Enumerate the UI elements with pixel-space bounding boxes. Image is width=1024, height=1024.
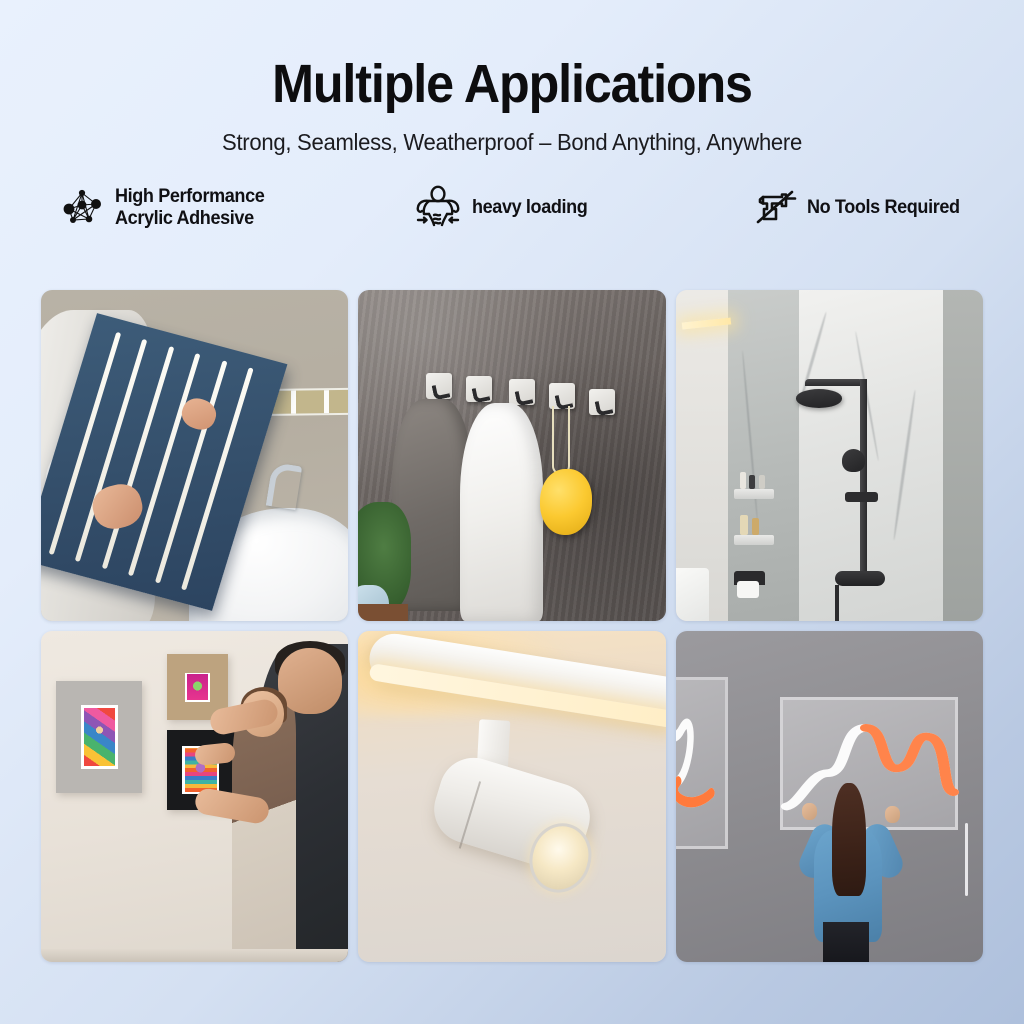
feature-badge-label: High Performance Acrylic Adhesive <box>115 186 264 231</box>
gallery-cell-adhesive-hooks <box>358 290 665 621</box>
no-drill-icon <box>752 185 798 232</box>
photo-shower-fixtures <box>676 290 983 621</box>
application-photo-grid <box>41 290 983 962</box>
photo-panel-install <box>41 290 348 621</box>
strong-arms-icon <box>413 184 463 233</box>
header: Multiple Applications Strong, Seamless, … <box>0 0 1024 156</box>
photo-neon-strip-art <box>676 631 983 962</box>
feature-badge-acrylic-adhesive: High Performance Acrylic Adhesive <box>44 185 348 232</box>
page-title: Multiple Applications <box>36 56 988 113</box>
feature-badge-label: No Tools Required <box>807 197 960 219</box>
photo-framed-art <box>41 631 348 962</box>
molecule-network-icon <box>60 185 106 232</box>
photo-adhesive-hooks <box>358 290 665 621</box>
feature-badge-label: heavy loading <box>472 197 587 219</box>
gallery-cell-ceiling-spotlight <box>358 631 665 962</box>
page-subtitle: Strong, Seamless, Weatherproof – Bond An… <box>20 129 1003 156</box>
gallery-cell-framed-art <box>41 631 348 962</box>
gallery-cell-neon-strip-art <box>676 631 983 962</box>
gallery-cell-panel-install <box>41 290 348 621</box>
feature-badge-list: High Performance Acrylic Adhesive <box>44 184 980 233</box>
gallery-cell-shower-fixtures <box>676 290 983 621</box>
photo-ceiling-spotlight <box>358 631 665 962</box>
feature-badge-no-tools: No Tools Required <box>658 185 980 232</box>
feature-badge-heavy-loading: heavy loading <box>348 184 659 233</box>
